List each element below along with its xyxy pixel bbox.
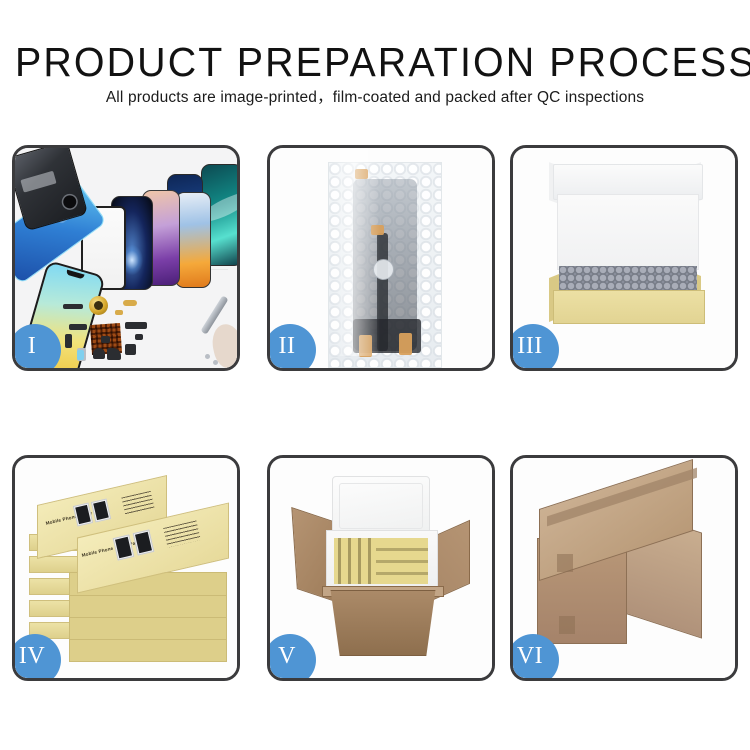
step-badge-5: V [267, 634, 316, 681]
camera-lens [62, 194, 78, 210]
page-header: PRODUCT PREPARATION PROCESS All products… [0, 0, 750, 130]
step-badge-4: IV [12, 634, 61, 681]
part-vibrator [107, 348, 121, 360]
part-ic-chip [135, 334, 143, 340]
yellow-box-front-image [553, 290, 705, 324]
box-gap [376, 560, 428, 563]
box-gap [368, 538, 371, 584]
part-flex-cable [69, 324, 87, 330]
part-camera-module [125, 344, 136, 355]
speaker-coil-part [89, 296, 108, 315]
plastic-sheen [328, 148, 380, 356]
process-step-panel-1: I [12, 145, 240, 371]
step-badge-2: II [267, 324, 316, 371]
box-gap [376, 548, 428, 551]
part-chip [63, 304, 83, 309]
phone-gold-gradient-image [175, 192, 211, 288]
yellow-boxes-inside-image [334, 538, 428, 584]
part-gold-flex [123, 300, 137, 306]
part-gold-tab [115, 310, 123, 315]
stacked-box [69, 638, 227, 662]
part-button [93, 348, 105, 359]
part-connector [65, 334, 72, 348]
box-gap [358, 538, 361, 584]
stacked-box [69, 594, 227, 618]
box-gap [376, 572, 428, 575]
process-step-grid: I II [12, 145, 738, 681]
process-step-panel-6: VI [510, 455, 738, 681]
part-ribbon [125, 322, 147, 329]
stacked-box [69, 616, 227, 640]
foam-liner-image [557, 194, 699, 270]
step-badge-3: III [510, 324, 559, 371]
part-screw [213, 360, 218, 365]
page-subtitle: All products are image-printed，film-coat… [0, 88, 750, 108]
process-step-panel-2: II [267, 145, 495, 371]
part-ic-chip [101, 336, 110, 343]
part-screw [205, 354, 210, 359]
carton-flap-tab [559, 616, 575, 634]
carton-flap-tab [557, 554, 573, 572]
part-gold-tab [399, 333, 412, 355]
process-step-panel-3: III [510, 145, 738, 371]
bubble-wrap-contents-image [559, 266, 697, 292]
box-gap [348, 538, 351, 584]
chassis-strip [20, 171, 56, 193]
step-badge-6: VI [510, 634, 559, 681]
part-sim-tray-inner [77, 350, 84, 360]
process-step-panel-4: Mobile Phone Spare Parts Mobile Phone Sp… [12, 455, 240, 681]
step-badge-1: I [12, 324, 61, 371]
page-title: PRODUCT PREPARATION PROCESS [15, 40, 735, 84]
foam-lid-image [332, 476, 430, 536]
box-gap [338, 538, 341, 584]
process-step-panel-5: V [267, 455, 495, 681]
carton-front-image [326, 590, 440, 656]
